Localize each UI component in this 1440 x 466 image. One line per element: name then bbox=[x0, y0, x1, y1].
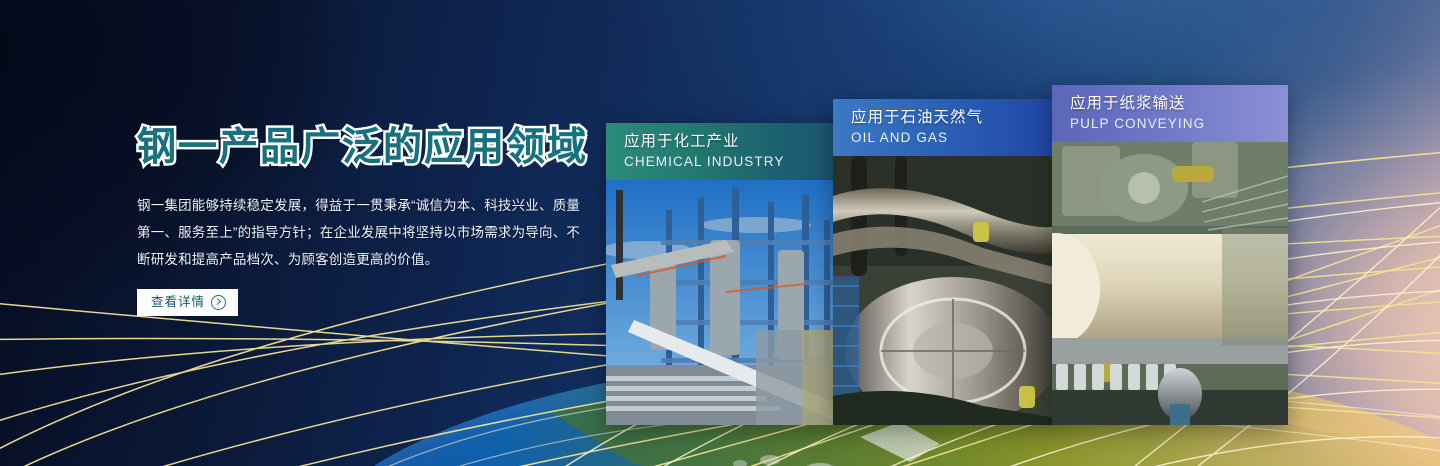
circle-arrow-right-icon bbox=[211, 295, 226, 310]
card-chemical-title-cn: 应用于化工产业 bbox=[624, 132, 840, 153]
card-chemical-title-en: CHEMICAL INDUSTRY bbox=[624, 153, 840, 171]
page-title-fill: 钢一产品广泛的应用领域 bbox=[137, 128, 588, 169]
chemical-plant-photo bbox=[606, 180, 840, 425]
pulp-conveying-roller-photo bbox=[1052, 142, 1288, 425]
card-oil-and-gas[interactable]: 应用于石油天然气 OIL AND GAS bbox=[833, 99, 1057, 425]
card-pulp-title-en: PULP CONVEYING bbox=[1070, 115, 1288, 133]
card-oil-title-cn: 应用于石油天然气 bbox=[851, 108, 1057, 129]
hero-description: 钢一集团能够持续稳定发展，得益于一贯秉承“诚信为本、科技兴业、质量第一、服务至上… bbox=[137, 192, 585, 273]
hero-banner: 钢一产品广泛的应用领域 钢一产品广泛的应用领域 钢一集团能够持续稳定发展，得益于… bbox=[0, 0, 1440, 466]
card-pulp-header: 应用于纸浆输送 PULP CONVEYING bbox=[1052, 85, 1288, 142]
card-oil-image bbox=[833, 156, 1057, 425]
card-pulp-conveying[interactable]: 应用于纸浆输送 PULP CONVEYING bbox=[1052, 85, 1288, 425]
view-details-label: 查看详情 bbox=[151, 296, 205, 310]
card-chemical-image bbox=[606, 180, 840, 425]
card-oil-title-en: OIL AND GAS bbox=[851, 129, 1057, 147]
card-chemical-industry[interactable]: 应用于化工产业 CHEMICAL INDUSTRY bbox=[606, 123, 840, 425]
card-chemical-header: 应用于化工产业 CHEMICAL INDUSTRY bbox=[606, 123, 840, 180]
view-details-button[interactable]: 查看详情 bbox=[137, 289, 238, 316]
page-title: 钢一产品广泛的应用领域 钢一产品广泛的应用领域 bbox=[137, 128, 597, 178]
card-pulp-image bbox=[1052, 142, 1288, 425]
card-oil-header: 应用于石油天然气 OIL AND GAS bbox=[833, 99, 1057, 156]
oil-and-gas-pipeline-photo bbox=[833, 156, 1057, 425]
hero-copy: 钢一产品广泛的应用领域 钢一产品广泛的应用领域 钢一集团能够持续稳定发展，得益于… bbox=[137, 128, 597, 316]
card-pulp-title-cn: 应用于纸浆输送 bbox=[1070, 94, 1288, 115]
